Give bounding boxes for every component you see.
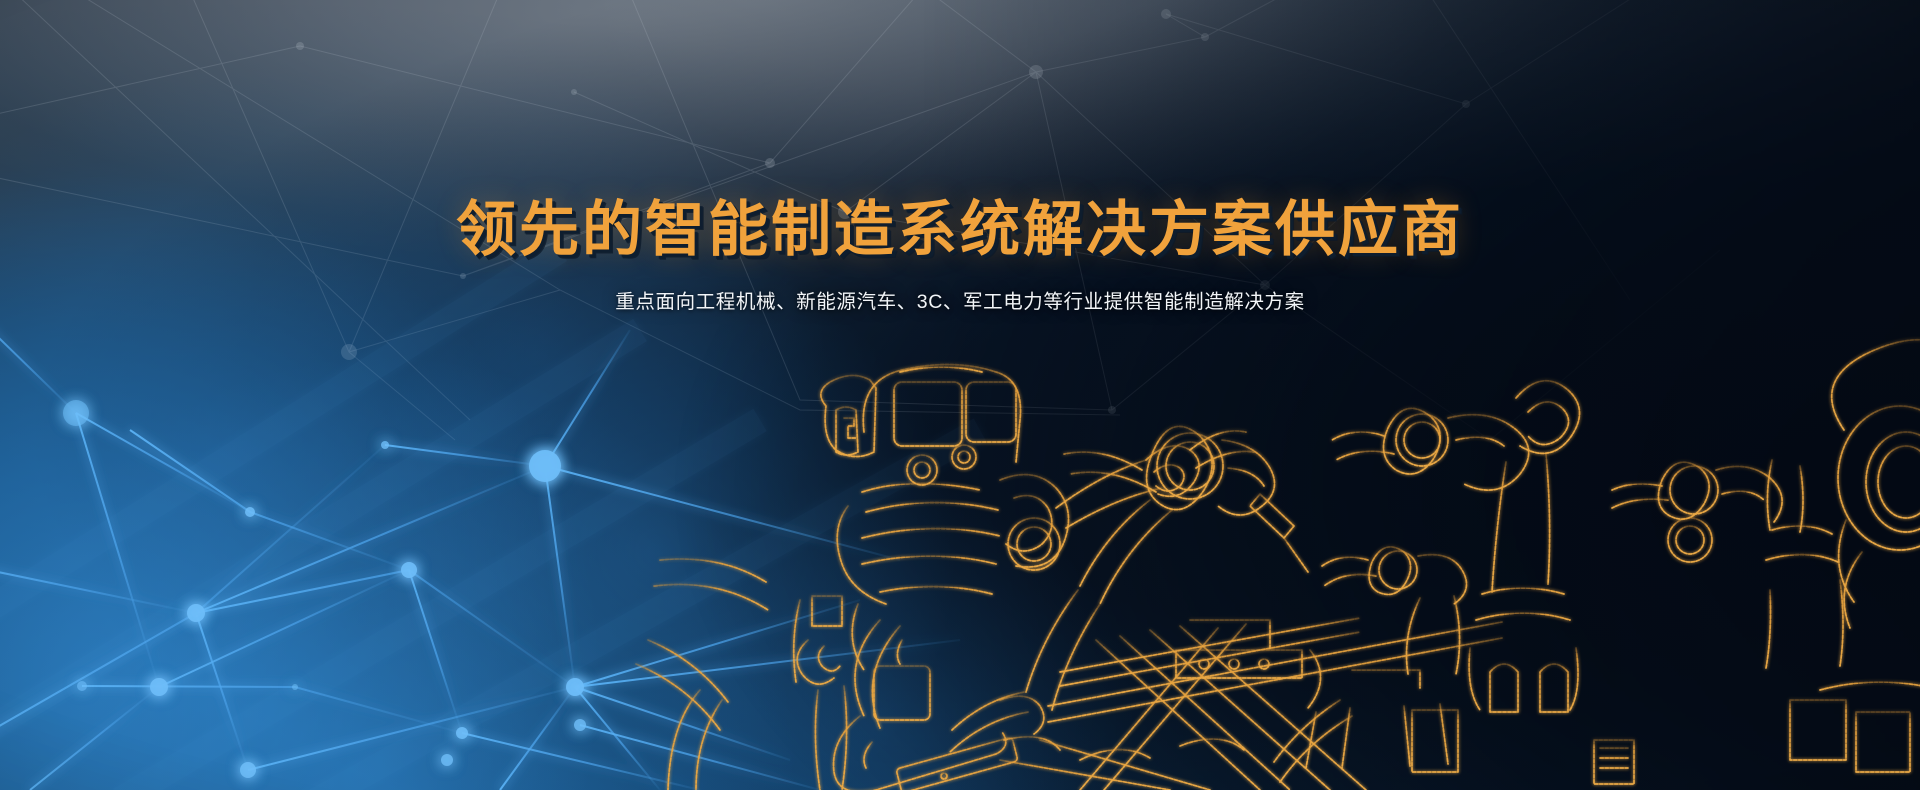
robot-head-large — [1820, 340, 1920, 772]
left-support-structure — [636, 470, 866, 790]
page-subtitle: 重点面向工程机械、新能源汽车、3C、军工电力等行业提供智能制造解决方案 — [0, 289, 1920, 316]
robot-arm-articulated-left — [1332, 381, 1634, 790]
handheld-tool-robot — [1274, 547, 1474, 782]
page-title: 领先的智能制造系统解决方案供应商 — [0, 198, 1920, 263]
conveyor-rail — [1000, 618, 1502, 790]
industrial-robot-artwork — [0, 0, 1920, 790]
hero-banner: 领先的智能制造系统解决方案供应商 重点面向工程机械、新能源汽车、3C、军工电力等… — [0, 0, 1920, 790]
robot-arm-articulated-right — [1612, 460, 1860, 760]
robot-arm-welding — [950, 426, 1308, 752]
banner-copy: 领先的智能制造系统解决方案供应商 重点面向工程机械、新能源汽车、3C、军工电力等… — [0, 198, 1920, 316]
